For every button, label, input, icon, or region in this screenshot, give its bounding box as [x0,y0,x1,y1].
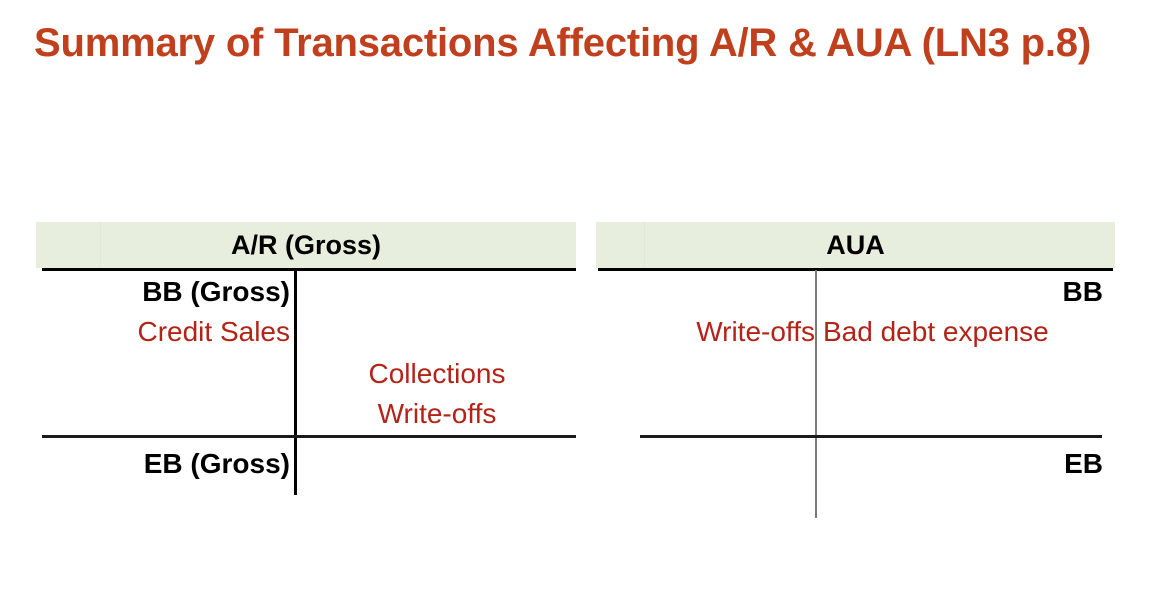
page-title: Summary of Transactions Affecting A/R & … [34,18,1124,69]
t-account-aua-title: AUA [596,222,1115,268]
t-account-aua-ending-balance: EB [823,448,1103,480]
t-account-ar-credit-collections: Collections [298,358,576,390]
t-account-aua-divider [815,270,817,518]
t-account-aua-credit-beginning-balance: BB [823,276,1103,308]
t-account-ar-bottom-rule [42,435,576,438]
t-account-ar-top-rule [42,268,576,271]
t-account-aua: AUA Write-offs BB Bad debt expense EB [596,222,1115,507]
t-account-ar-title: A/R (Gross) [36,222,576,268]
t-account-ar: A/R (Gross) BB (Gross) Credit Sales Coll… [36,222,576,507]
t-account-ar-credit-write-offs: Write-offs [298,398,576,430]
t-account-aua-bottom-rule [640,435,1102,438]
t-account-ar-debit-beginning-balance: BB (Gross) [32,276,290,308]
t-account-ar-debit-credit-sales: Credit Sales [32,316,290,348]
t-account-aua-credit-bad-debt-expense: Bad debt expense [823,316,1115,348]
t-account-ar-divider [294,270,297,495]
t-account-aua-top-rule [598,268,1113,271]
t-account-ar-ending-balance: EB (Gross) [32,448,290,480]
t-account-aua-debit-write-offs: Write-offs [586,316,815,348]
